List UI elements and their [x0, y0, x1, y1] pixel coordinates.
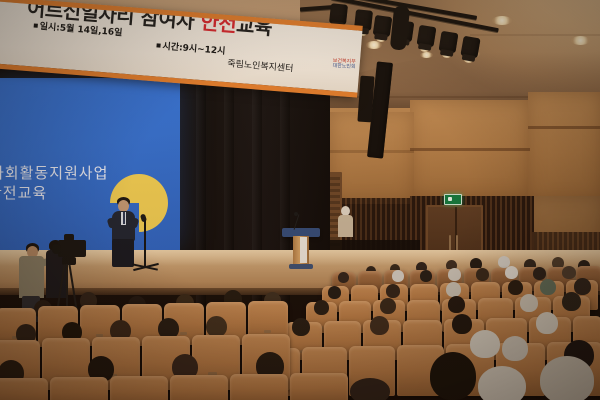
auditorium-seat[interactable] [110, 376, 168, 400]
audience-head [380, 298, 396, 314]
audience-head [476, 268, 489, 281]
panel-seam [410, 148, 530, 151]
microphone-stand-pole [144, 220, 146, 268]
stage-spotlight [460, 36, 480, 59]
audience-head [292, 318, 310, 336]
banner-organizer: 죽림노인복지센터 [227, 56, 294, 74]
audience-head-white-hair [536, 312, 558, 334]
presenter-necktie [123, 212, 125, 224]
audience-head-cap [540, 279, 556, 295]
ceiling-downlight [366, 41, 382, 49]
screen-line-2: 안전교육 [0, 182, 47, 203]
stage-spotlight [373, 15, 393, 37]
video-camera-body [58, 240, 86, 257]
projection-screen: 사회활동지원사업 안전교육 죽림노인복지센터 [0, 78, 180, 250]
audience-head [328, 286, 341, 299]
video-camera-viewfinder [64, 234, 74, 241]
audience-head [452, 314, 472, 334]
auditorium-seat[interactable] [230, 374, 288, 400]
audience-head-white-hair [540, 356, 594, 400]
bullet-square-icon [156, 43, 160, 47]
audience-head-white-hair [446, 282, 461, 297]
wall-panel [528, 92, 600, 202]
auditorium-seat[interactable] [0, 378, 48, 400]
audience-head [350, 378, 390, 400]
audience-head [314, 300, 329, 315]
audience-head-white-hair [478, 366, 526, 400]
audience-head-white-hair [470, 330, 500, 358]
audience-head [533, 267, 546, 280]
audience-head-white-hair [392, 270, 404, 282]
audience-head [508, 280, 523, 295]
auditorium-seat[interactable] [170, 375, 228, 400]
banner-logo: 보건복지부 대한노인회 [332, 59, 355, 70]
audience-head [338, 272, 349, 283]
audience-head [370, 316, 389, 335]
audience-head [206, 316, 227, 337]
stage-spotlight [417, 25, 437, 47]
audience-head-white-hair [520, 294, 538, 312]
bullet-square-icon [34, 23, 38, 27]
panel-seam [528, 126, 600, 129]
podium-front-panel [300, 237, 307, 263]
screen-line-1: 사회활동지원사업 [0, 162, 108, 183]
banner-time: 시간:9시~12시 [156, 38, 226, 56]
audience-head-white-hair [502, 336, 528, 361]
ceiling-downlight [420, 52, 433, 58]
stage-spotlight [329, 3, 348, 25]
auditorium-seat[interactable] [290, 373, 348, 400]
audience-head [574, 278, 591, 295]
audience-head [562, 292, 581, 311]
auditorium-seat[interactable] [50, 377, 108, 400]
stage-spotlight [439, 31, 459, 53]
audience-head [562, 266, 576, 279]
audience-head-cap [448, 268, 461, 281]
audience-head [386, 284, 400, 298]
podium-base [289, 264, 313, 269]
audience-head [448, 296, 465, 313]
presenter-trousers [112, 239, 134, 267]
banner-logo-line-2: 대한노인회 [332, 64, 355, 70]
video-camera-lens [52, 244, 61, 254]
audience-head-hat [505, 266, 518, 279]
ceiling-downlight [492, 16, 512, 25]
audience-head [430, 352, 476, 400]
seat-number-tag [180, 332, 187, 335]
wooden-podium [282, 228, 320, 268]
podium-microphone-head [294, 212, 298, 216]
audience-head [420, 270, 432, 282]
ceiling-downlight [571, 36, 590, 45]
stage-attendant-body [338, 215, 353, 237]
tripod-leg [66, 264, 68, 312]
auditorium-photo: 사회활동지원사업 안전교육 죽림노인복지센터 어르신일자리 참여자 안전교육 일… [0, 0, 600, 400]
emergency-exit-sign [444, 194, 462, 205]
seat-number-tag [264, 330, 271, 333]
